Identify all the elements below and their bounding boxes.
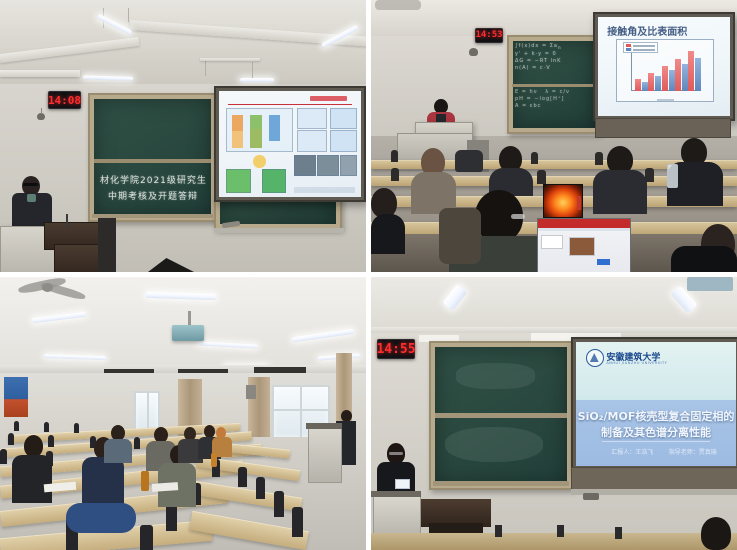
schematic-block-blue: [269, 115, 280, 140]
seat-back: [74, 423, 79, 433]
slide-content: [219, 91, 361, 197]
blackboard: 材化学院2021级研究生 中期考核及开题答辩: [88, 93, 217, 222]
seat-back: [615, 527, 622, 539]
bar-group-3: [662, 46, 675, 91]
fan-hub: [42, 283, 53, 292]
wall-ledge: [214, 228, 344, 233]
lower-blackboard: [595, 118, 731, 138]
slide-presenter-label: 汇报人：王浩飞: [611, 447, 653, 456]
seat-back: [14, 421, 19, 431]
bar-series-2-cat-2: [655, 76, 661, 91]
desk-item: [583, 493, 599, 500]
backpack: [439, 208, 481, 264]
schematic-panel-dots-d: [330, 130, 358, 152]
projection-screen: 接触角及比表面积: [593, 12, 735, 121]
clock-time: 14:53: [475, 31, 502, 40]
legend-entry-2: [626, 48, 655, 51]
photo-bottom-left[interactable]: [0, 277, 366, 550]
light-rod-4: [252, 62, 253, 78]
projection-screen: 安徽建筑大学 ANHUI JIANZHU UNIVERSITY SiO₂/MOF…: [571, 337, 737, 471]
blackboard-line-1: 材化学院2021级研究生: [100, 173, 207, 186]
seat-back: [391, 150, 398, 162]
bar-series-2-cat-1: [642, 82, 648, 91]
podium-top-surface: [371, 491, 421, 497]
chalk-tray: [433, 481, 569, 486]
audience-glasses: [511, 214, 525, 219]
audience-body: [104, 439, 132, 463]
photo-bottom-right[interactable]: 14:55 安徽建筑大学 ANHUI JIANZHU UNIVERSITY: [371, 277, 737, 550]
window-mullion: [274, 409, 328, 411]
seat-back: [495, 525, 502, 537]
bar-group-5: [688, 46, 701, 91]
security-camera: [469, 48, 478, 56]
tablet-side-button: [577, 196, 581, 210]
slide-content: 安徽建筑大学 ANHUI JIANZHU UNIVERSITY SiO₂/MOF…: [576, 342, 736, 466]
legend-swatch-series-2: [626, 48, 631, 51]
laptop-page-navbar: [538, 228, 630, 232]
audience-body: [593, 170, 647, 214]
schematic-panel-green-1: [226, 169, 251, 192]
window-mullion: [300, 387, 302, 437]
seat-back: [44, 422, 49, 432]
slide-title-line-2: 制备及其色谱分离性能: [576, 424, 736, 440]
chalk-smudge: [445, 427, 543, 462]
blackboard-line-2: 中期考核及开题答辩: [108, 189, 198, 202]
speaker-collar: [27, 194, 36, 202]
water-bottle: [141, 471, 149, 491]
schematic-block-teal: [232, 131, 243, 148]
clock-time: 14:08: [48, 95, 81, 106]
audience-head: [701, 517, 731, 550]
laptop-screen: [537, 218, 631, 272]
fluorescent-tube-4: [240, 78, 274, 82]
photo-top-right[interactable]: 14:53 ∫f(x)dx = Σany' + k·y = 0ΔG = −RT …: [371, 0, 737, 272]
blackboard-divider: [512, 84, 596, 87]
seat-back: [134, 437, 140, 449]
bar-series-1-cat-1: [635, 79, 641, 91]
backpack: [66, 503, 136, 533]
bar-series-1-cat-2: [648, 73, 654, 92]
seat-back: [292, 507, 303, 537]
photo-top-left[interactable]: 14:08 材化学院2021级研究生 中期考核及开题答辩: [0, 0, 366, 272]
projection-screen: [214, 86, 366, 202]
security-camera: [37, 113, 45, 120]
seat-back: [166, 503, 177, 531]
chart-legend: [623, 42, 658, 53]
schematic-block-olive: [250, 129, 261, 148]
seat-back: [48, 435, 54, 447]
seat-back: [557, 525, 564, 537]
podium-top: [306, 423, 342, 429]
laptop-page-header: [538, 219, 630, 228]
seat-back: [391, 168, 399, 181]
seat-back: [0, 449, 7, 464]
wall-clock: 14:08: [48, 91, 81, 109]
seat-back: [140, 525, 153, 550]
bar-series-2-cat-5: [695, 58, 701, 91]
ceiling-projector: [172, 325, 204, 341]
bar-series-1-cat-5: [688, 51, 694, 91]
camera-mount: [41, 108, 42, 114]
water-bottle: [667, 164, 678, 188]
slide-advisor-label: 指导老师：贾真瑜: [669, 447, 717, 456]
speaker-glasses: [23, 183, 38, 186]
projector-mount: [687, 277, 733, 291]
blackboard-divider: [94, 159, 211, 163]
ceiling-beam-3: [0, 70, 80, 77]
audience-head: [24, 435, 43, 457]
bar-chart: [616, 39, 713, 102]
ceiling-fan: [375, 0, 421, 10]
blackboard-divider: [435, 413, 567, 418]
photo-collage: 14:08 材化学院2021级研究生 中期考核及开题答辩: [0, 0, 737, 550]
seat-back: [256, 477, 265, 499]
window-mullion: [147, 393, 149, 431]
seat-back: [274, 491, 284, 517]
schematic-panel-green-2: [262, 169, 287, 192]
schematic-panel-dots-c: [297, 130, 327, 152]
schematic-panel-sem-3: [340, 155, 358, 176]
pillar-dark: [98, 218, 116, 272]
front-desk-row: [371, 533, 737, 550]
slide-title: 接触角及比表面积: [607, 23, 687, 38]
schematic-circle: [253, 155, 266, 169]
seat-back: [537, 170, 546, 184]
presenter-glasses: [389, 452, 403, 455]
audience-body: [671, 246, 737, 272]
chalk-smudge: [456, 363, 534, 389]
blackboard: ∫f(x)dx = Σany' + k·y = 0ΔG = −RT lnKn(A…: [507, 35, 601, 134]
university-name-en: ANHUI JIANZHU UNIVERSITY: [606, 361, 667, 365]
slide-title-rule: [602, 441, 711, 442]
presenter-badge: [395, 479, 410, 489]
seat-back: [595, 152, 603, 165]
schematic-panel-dots-a: [297, 108, 327, 129]
blackboard: [429, 341, 573, 490]
schematic-panel-sem-2: [317, 155, 339, 176]
x-axis-label: [657, 99, 674, 101]
bar-series-1-cat-4: [675, 59, 681, 91]
legend-swatch-series-1: [626, 44, 631, 47]
light-rod-2: [128, 8, 129, 22]
microphone-stand: [66, 214, 68, 228]
audience-body: [82, 457, 124, 507]
legend-label-series-1: [633, 45, 655, 47]
schematic-panel-sem-1: [294, 155, 316, 176]
chalk-equations-lower: E = hν λ = c/νpH = −log[H⁺]A = εbc: [515, 89, 570, 110]
slide-header-chip: [310, 96, 347, 102]
handbag: [455, 150, 483, 172]
seat-back: [531, 152, 538, 164]
clock-time: 14:55: [376, 343, 415, 356]
audience-body: [12, 455, 52, 503]
seat-back: [238, 467, 247, 487]
ceiling-bracket: [200, 58, 260, 61]
bar-series-2-cat-4: [682, 64, 688, 91]
schematic-caption-row: [294, 187, 355, 192]
bar-series-1-cat-3: [662, 66, 668, 91]
bar-group-4: [675, 46, 688, 91]
front-table-leg: [429, 523, 483, 533]
water-bottle: [211, 453, 217, 467]
seat-back: [8, 433, 14, 445]
laptop-page-button: [597, 259, 610, 265]
wall-speaker: [246, 385, 256, 399]
laptop-page-sidebar: [541, 235, 563, 249]
audience-body: [371, 214, 405, 254]
slide-content: 接触角及比表面积: [598, 17, 730, 116]
slide-header-rule: [228, 94, 353, 105]
wall-clock: 14:55: [377, 339, 415, 359]
wall-clock: 14:53: [475, 28, 503, 43]
lower-blackboard-strip: [571, 467, 737, 491]
legend-entry-1: [626, 44, 655, 47]
legend-label-series-2: [633, 49, 655, 51]
podium: [308, 425, 342, 483]
slide-title-line-1: SiO₂/MOF核壳型复合固定相的: [576, 408, 736, 424]
laptop-page-thumbnail: [569, 237, 595, 255]
bar-series-2-cat-3: [669, 70, 675, 91]
wall-poster: [4, 377, 28, 417]
schematic-panel-dots-b: [330, 108, 358, 129]
chalk-equations-upper: ∫f(x)dx = Σany' + k·y = 0ΔG = −RT lnKn(A…: [515, 43, 562, 72]
